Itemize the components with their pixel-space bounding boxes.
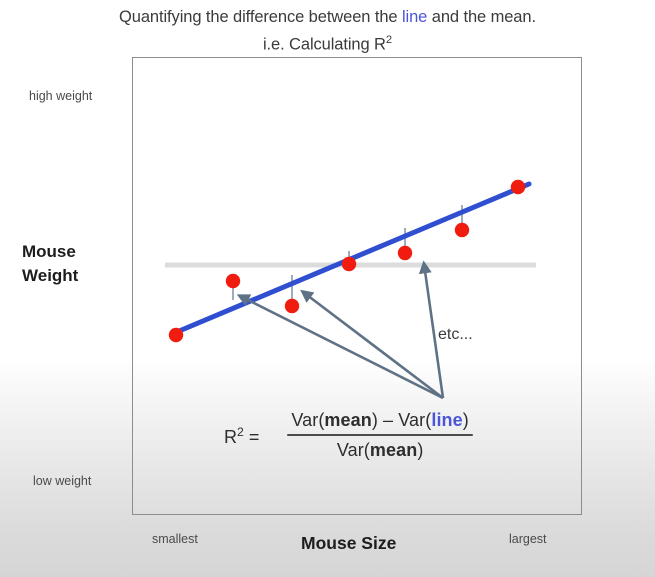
r-squared-formula: R2 = Var(mean) – Var(line) Var(mean) <box>224 410 473 461</box>
numerator-close-2: ) <box>463 410 469 430</box>
slide-title: Quantifying the difference between the l… <box>0 6 655 57</box>
formula-denominator: Var(mean) <box>337 436 424 461</box>
numerator-line-keyword: line <box>431 410 462 430</box>
x-axis-min-label: smallest <box>152 532 198 546</box>
formula-fraction: Var(mean) – Var(line) Var(mean) <box>287 410 473 461</box>
etc-annotation: etc... <box>438 326 473 344</box>
y-axis-title: Mouse Weight <box>22 240 78 288</box>
title-text-after: and the mean. <box>427 8 536 26</box>
numerator-mean-1: mean <box>324 410 371 430</box>
title-line-1: Quantifying the difference between the l… <box>0 6 655 29</box>
y-axis-title-line-2: Weight <box>22 264 78 288</box>
formula-lhs: R2 = <box>224 423 259 448</box>
slide-canvas: Quantifying the difference between the l… <box>0 0 655 577</box>
title-keyword-line: line <box>402 8 427 26</box>
y-axis-title-line-1: Mouse <box>22 240 78 264</box>
numerator-var-2: Var( <box>398 410 431 430</box>
title-text-before: Quantifying the difference between the <box>119 8 402 26</box>
denominator-close: ) <box>417 440 423 460</box>
formula-lhs-symbol: R <box>224 427 237 447</box>
denominator-var: Var( <box>337 440 370 460</box>
denominator-mean: mean <box>370 440 417 460</box>
x-axis-max-label: largest <box>509 532 547 546</box>
formula-equals: = <box>249 427 260 447</box>
y-axis-high-label: high weight <box>29 89 92 103</box>
formula-numerator: Var(mean) – Var(line) <box>287 410 473 434</box>
title-superscript: 2 <box>386 34 392 46</box>
x-axis-title: Mouse Size <box>301 533 396 554</box>
title-line-2: i.e. Calculating R2 <box>0 29 655 57</box>
formula-lhs-superscript: 2 <box>237 425 244 439</box>
numerator-minus: – <box>378 410 398 430</box>
y-axis-low-label: low weight <box>33 474 91 488</box>
title-subtext: i.e. Calculating R <box>263 36 386 54</box>
numerator-var-1: Var( <box>291 410 324 430</box>
